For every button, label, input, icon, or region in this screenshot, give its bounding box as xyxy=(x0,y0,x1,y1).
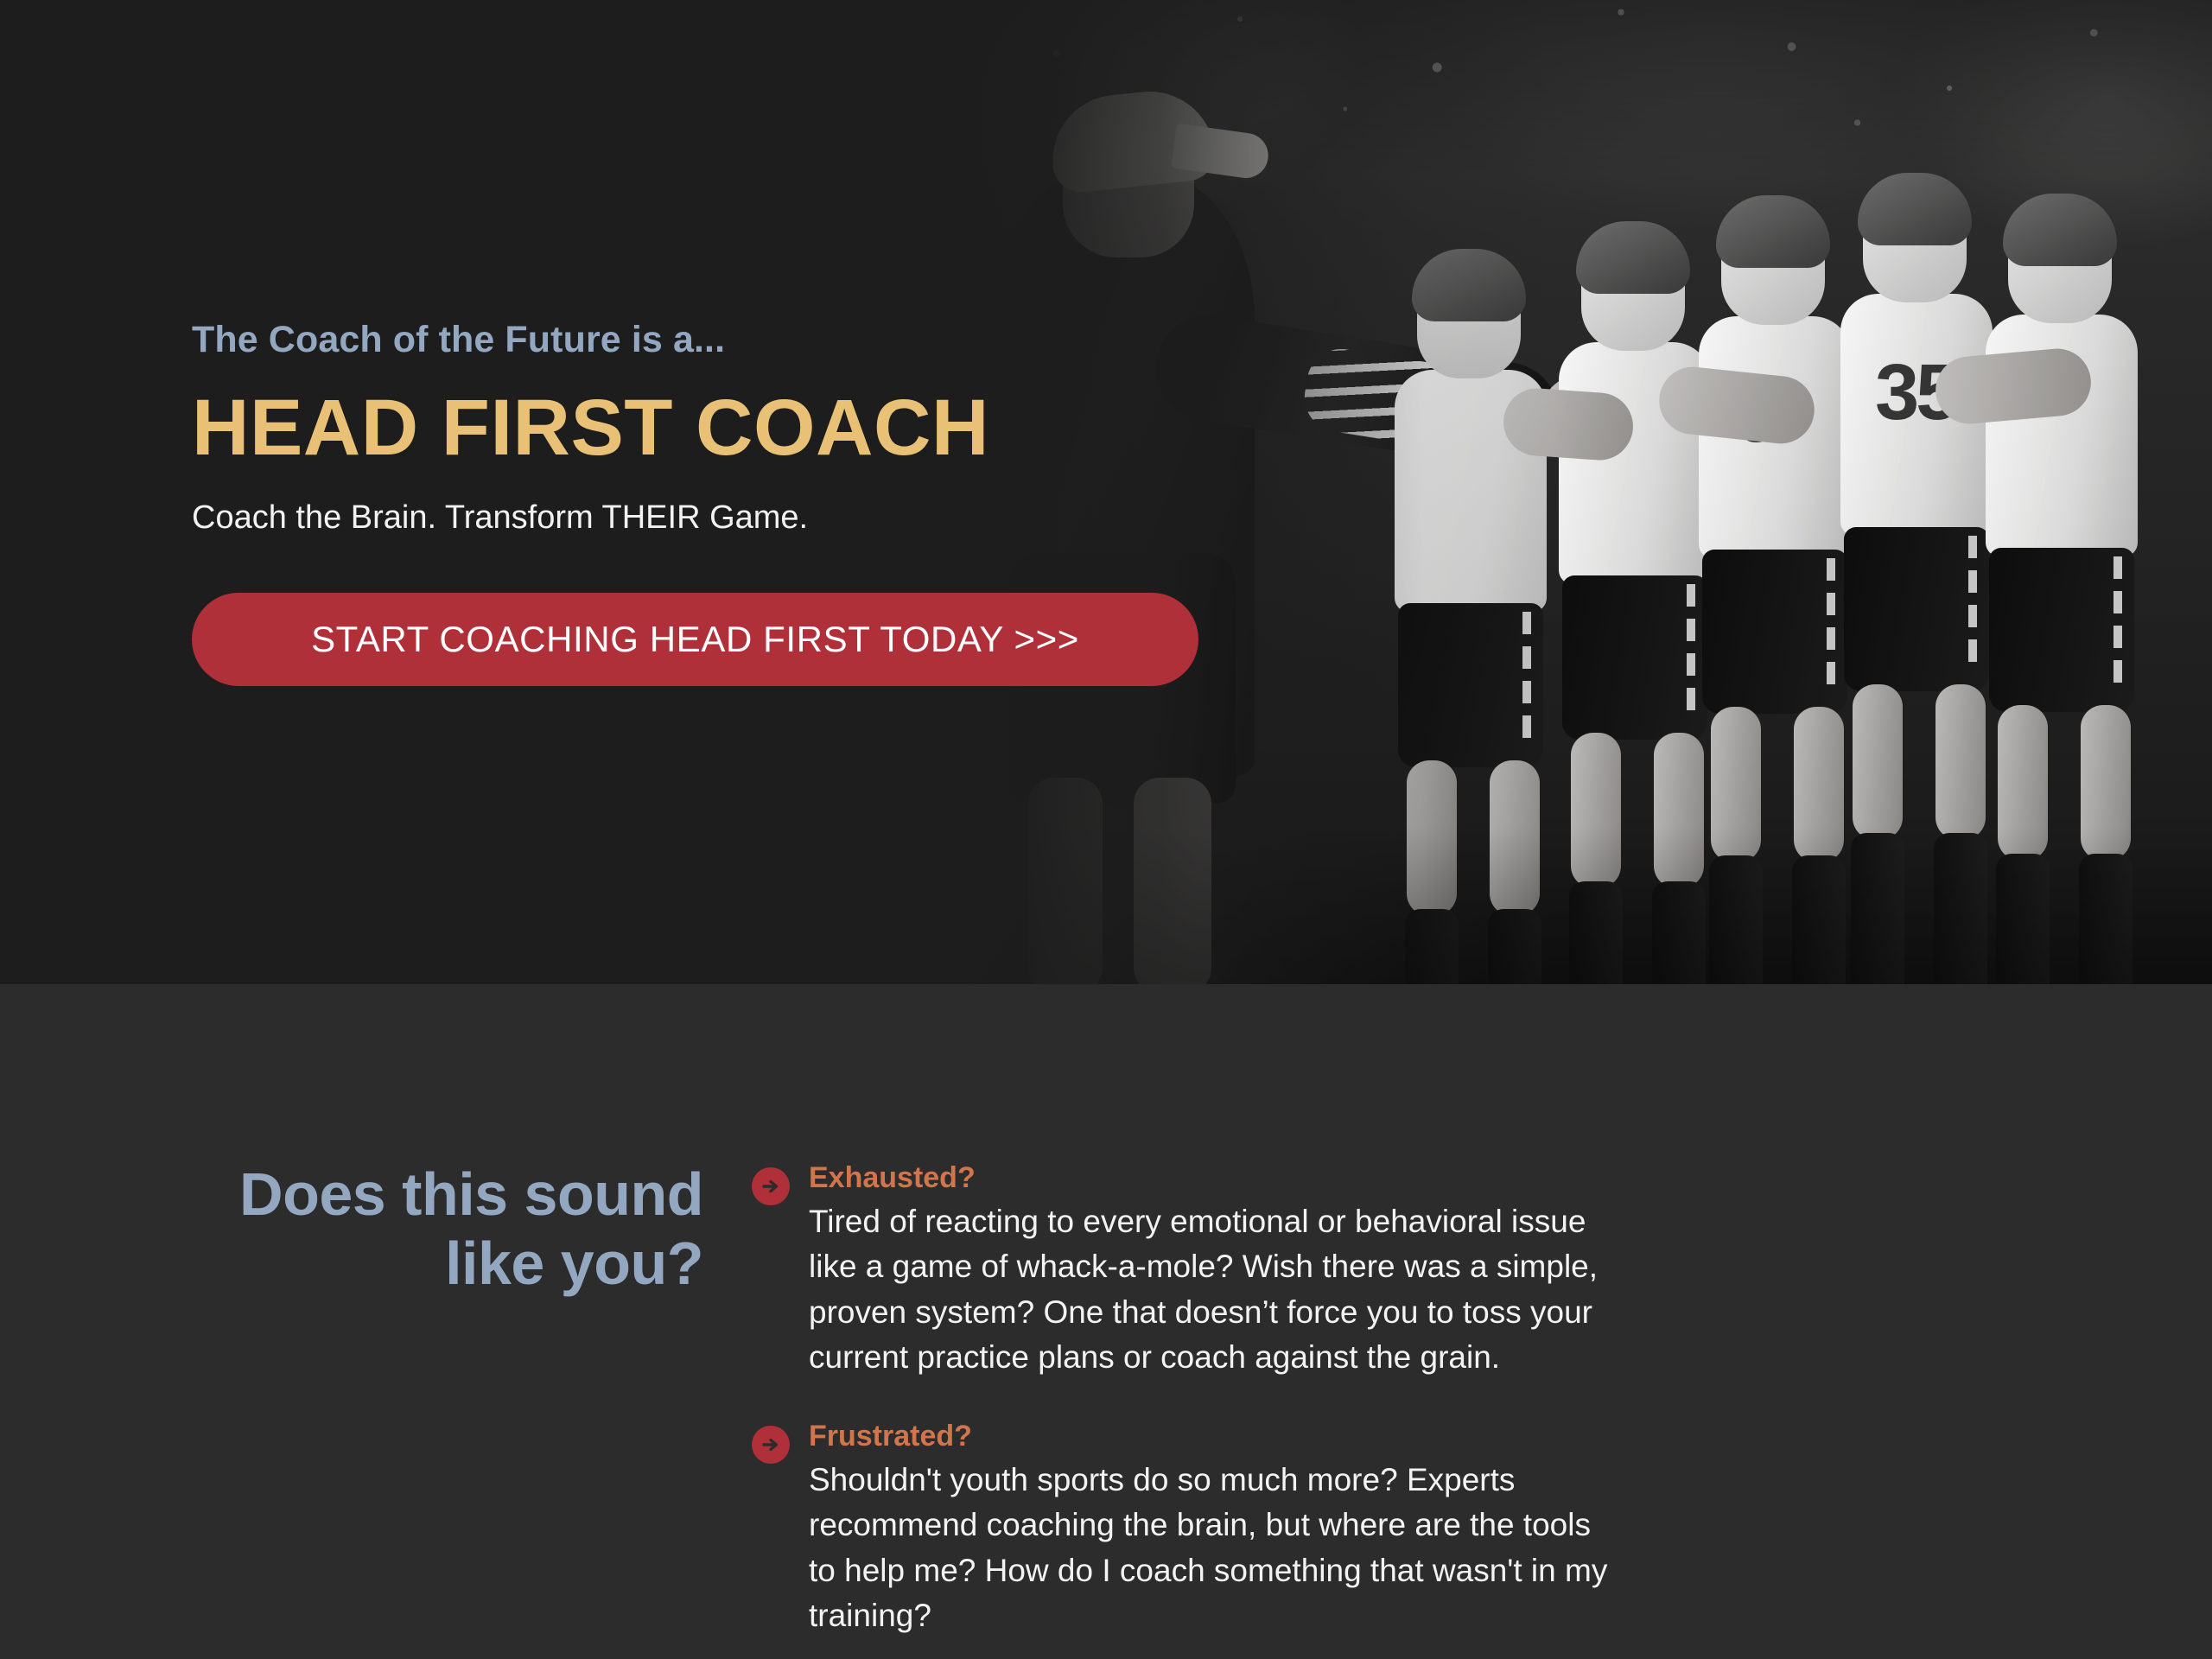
list-item-label: Frustrated? xyxy=(809,1419,1618,1454)
problem-heading-line-2: like you? xyxy=(445,1230,703,1297)
hero-eyebrow: The Coach of the Future is a... xyxy=(192,318,1160,363)
list-item: Frustrated? Shouldn't youth sports do so… xyxy=(809,1419,1618,1639)
problem-heading: Does this sound like you? xyxy=(192,1160,745,1299)
list-item-label: Exhausted? xyxy=(809,1160,1618,1196)
problem-heading-line-1: Does this sound xyxy=(239,1160,703,1228)
problem-section: Does this sound like you? Exhausted? Tir… xyxy=(0,984,2212,1659)
hero-section: 6 35 The Coach of the Future is a. xyxy=(0,0,2212,984)
arrow-right-circle-icon xyxy=(752,1167,790,1205)
hero-subtitle: Coach the Brain. Transform THEIR Game. xyxy=(192,497,1160,539)
start-coaching-cta-button[interactable]: START COACHING HEAD FIRST TODAY >>> xyxy=(192,593,1198,686)
page-title: HEAD FIRST COACH xyxy=(192,385,1160,471)
problem-list: Exhausted? Tired of reacting to every em… xyxy=(745,1160,1618,1639)
hero-copy: The Coach of the Future is a... HEAD FIR… xyxy=(192,318,1160,686)
list-item-text: Tired of reacting to every emotional or … xyxy=(809,1199,1618,1381)
list-item: Exhausted? Tired of reacting to every em… xyxy=(809,1160,1618,1381)
arrow-right-circle-icon xyxy=(752,1426,790,1464)
list-item-text: Shouldn't youth sports do so much more? … xyxy=(809,1458,1618,1639)
